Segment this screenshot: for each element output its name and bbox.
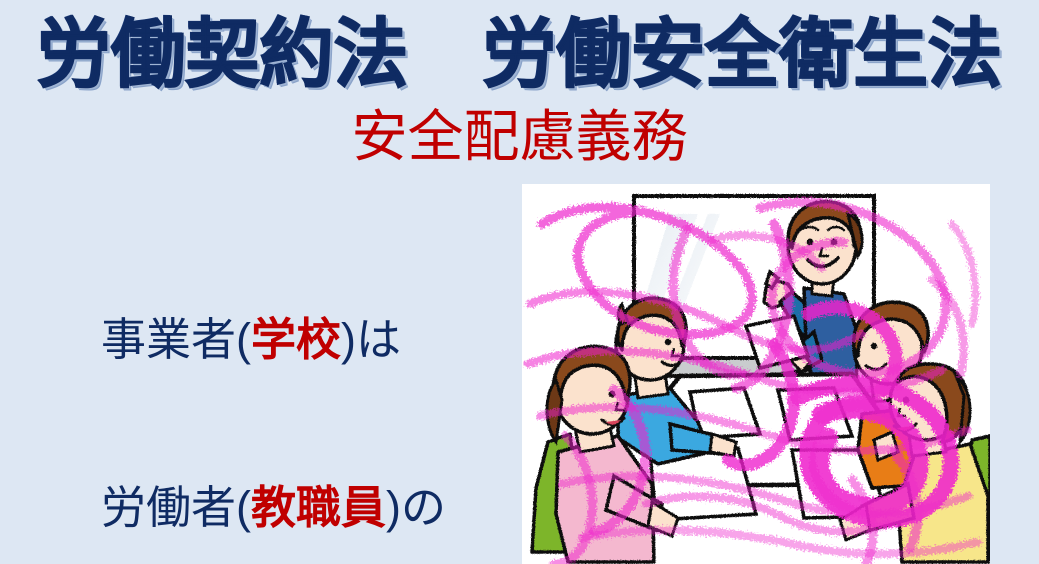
body-line-1-part-1: 事業者( — [101, 314, 251, 365]
body-text-block: 事業者(学校)は 労働者(教職員)の 安全を守らなければ ならない — [26, 256, 506, 564]
slide-canvas: 労働契約法 労働安全衛生法 安全配慮義務 事業者(学校)は 労働者(教職員)の … — [0, 0, 1039, 564]
classroom-meeting-graphic — [522, 184, 990, 564]
body-line-2-part-3: )の — [386, 482, 446, 533]
body-line-2-part-1: 労働者( — [101, 482, 251, 533]
classroom-meeting-illustration — [522, 184, 990, 564]
body-line-1: 事業者(学校)は — [26, 256, 506, 424]
page-subtitle: 安全配慮義務 — [0, 104, 1039, 170]
body-line-1-emphasis: 学校 — [251, 314, 341, 365]
page-title: 労働契約法 労働安全衛生法 — [5, 8, 1034, 100]
body-line-2-emphasis: 教職員 — [251, 482, 386, 533]
body-line-2: 労働者(教職員)の — [26, 424, 506, 564]
body-line-1-part-3: )は — [341, 314, 401, 365]
